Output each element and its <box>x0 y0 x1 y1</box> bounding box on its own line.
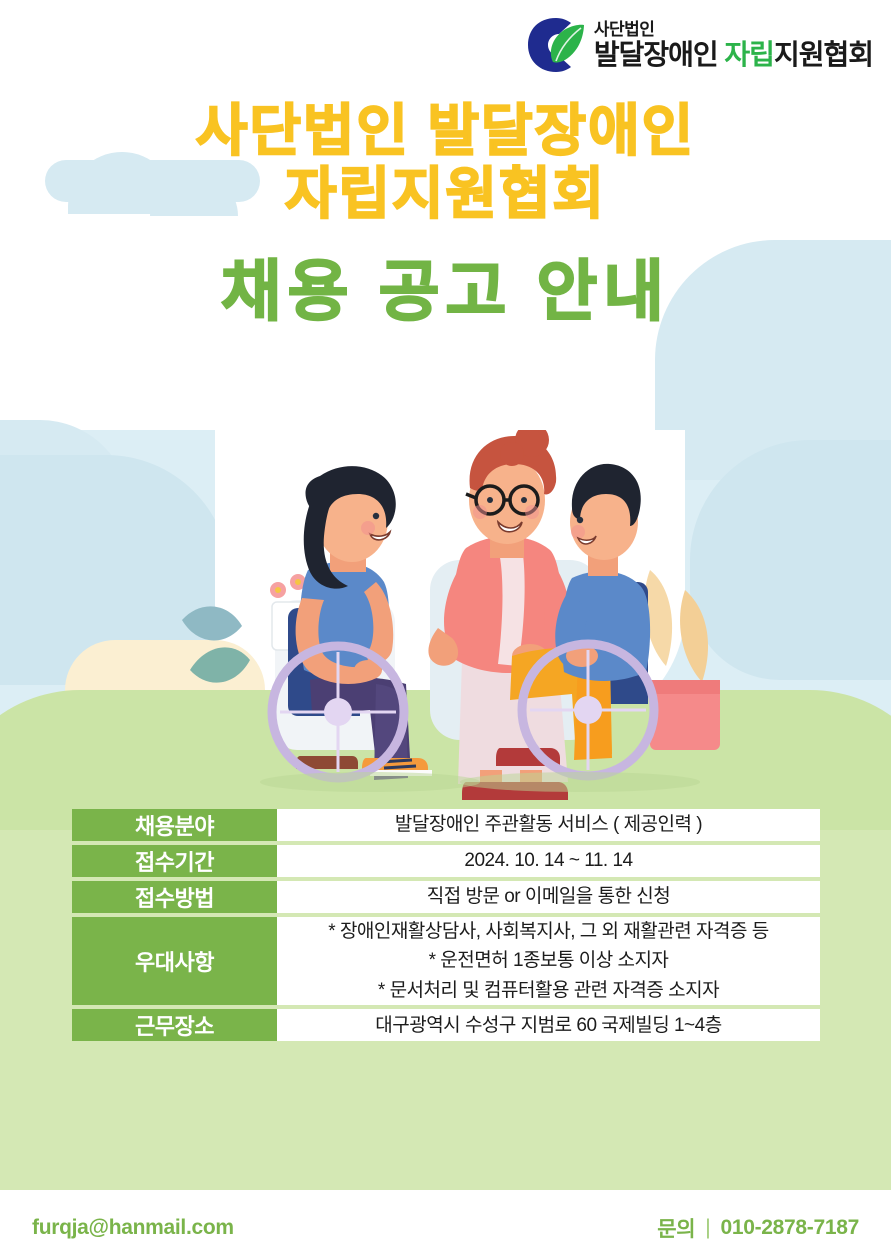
logo-text-plain-a: 발달장애인 <box>594 39 725 70</box>
row-label-application-method: 접수방법 <box>72 881 277 913</box>
table-row: 근무장소 대구광역시 수성구 지범로 60 국제빌딩 1~4층 <box>72 1009 820 1041</box>
poster-title: 사단법인 발달장애인 자립지원협회 <box>0 100 891 225</box>
leaf-in-crescent-logo-icon <box>526 16 588 74</box>
poster-subtitle: 채용 공고 안내 <box>0 255 891 328</box>
contact-email[interactable]: furqja@hanmail.com <box>32 1216 234 1240</box>
logo-text-green: 자립 <box>724 39 774 70</box>
table-row: 접수기간 2024. 10. 14 ~ 11. 14 <box>72 845 820 877</box>
contact-phone-number[interactable]: 010-2878-7187 <box>720 1216 859 1240</box>
logo-line-2: 발달장애인 자립지원협회 <box>594 41 873 69</box>
row-label-recruit-field: 채용분야 <box>72 809 277 841</box>
row-value-application-method: 직접 방문 or 이메일을 통한 신청 <box>277 881 820 913</box>
title-main-line-2: 자립지원협회 <box>0 163 891 226</box>
row-label-application-period: 접수기간 <box>72 845 277 877</box>
value-line: * 장애인재활상담사, 사회복지사, 그 외 재활관련 자격증 등 <box>277 917 820 946</box>
organization-logo: 사단법인 발달장애인 자립지원협회 <box>526 16 873 74</box>
logo-line-1: 사단법인 <box>594 21 873 38</box>
contact-divider: | <box>705 1216 710 1240</box>
row-value-recruit-field: 발달장애인 주관활동 서비스 ( 제공인력 ) <box>277 809 820 841</box>
row-label-preferred-qualifications: 우대사항 <box>72 917 277 1005</box>
table-row: 채용분야 발달장애인 주관활동 서비스 ( 제공인력 ) <box>72 809 820 841</box>
plant-left <box>182 606 250 682</box>
table-row: 우대사항 * 장애인재활상담사, 사회복지사, 그 외 재활관련 자격증 등 *… <box>72 917 820 1005</box>
contact-label: 문의 <box>657 1213 695 1243</box>
row-value-preferred-qualifications: * 장애인재활상담사, 사회복지사, 그 외 재활관련 자격증 등 * 운전면허… <box>277 917 820 1005</box>
logo-wordmark: 사단법인 발달장애인 자립지원협회 <box>594 21 873 69</box>
logo-text-plain-b: 지원협회 <box>774 39 873 70</box>
row-value-application-period: 2024. 10. 14 ~ 11. 14 <box>277 845 820 877</box>
table-row: 접수방법 직접 방문 or 이메일을 통한 신청 <box>72 881 820 913</box>
value-line: 직접 방문 or 이메일을 통한 신청 <box>277 882 820 911</box>
contact-phone-group: 문의 | 010-2878-7187 <box>657 1213 859 1243</box>
row-label-work-location: 근무장소 <box>72 1009 277 1041</box>
recruitment-info-table: 채용분야 발달장애인 주관활동 서비스 ( 제공인력 ) 접수기간 2024. … <box>72 805 820 1045</box>
person-caregiver <box>428 430 571 800</box>
value-line: 발달장애인 주관활동 서비스 ( 제공인력 ) <box>277 810 820 839</box>
recruitment-poster: 사단법인 발달장애인 자립지원협회 사단법인 발달장애인 자립지원협회 채용 공… <box>0 0 891 1260</box>
poster-footer: furqja@hanmail.com 문의 | 010-2878-7187 <box>0 1195 891 1260</box>
title-main-line-1: 사단법인 발달장애인 <box>0 100 891 163</box>
value-line: 2024. 10. 14 ~ 11. 14 <box>277 846 820 875</box>
value-line: * 문서처리 및 컴퓨터활용 관련 자격증 소지자 <box>277 976 820 1005</box>
row-value-work-location: 대구광역시 수성구 지범로 60 국제빌딩 1~4층 <box>277 1009 820 1041</box>
value-line: 대구광역시 수성구 지범로 60 국제빌딩 1~4층 <box>277 1011 820 1040</box>
value-line: * 운전면허 1종보통 이상 소지자 <box>277 946 820 975</box>
table-body: 채용분야 발달장애인 주관활동 서비스 ( 제공인력 ) 접수기간 2024. … <box>72 809 820 1041</box>
people-wheelchair-illustration <box>180 430 740 800</box>
